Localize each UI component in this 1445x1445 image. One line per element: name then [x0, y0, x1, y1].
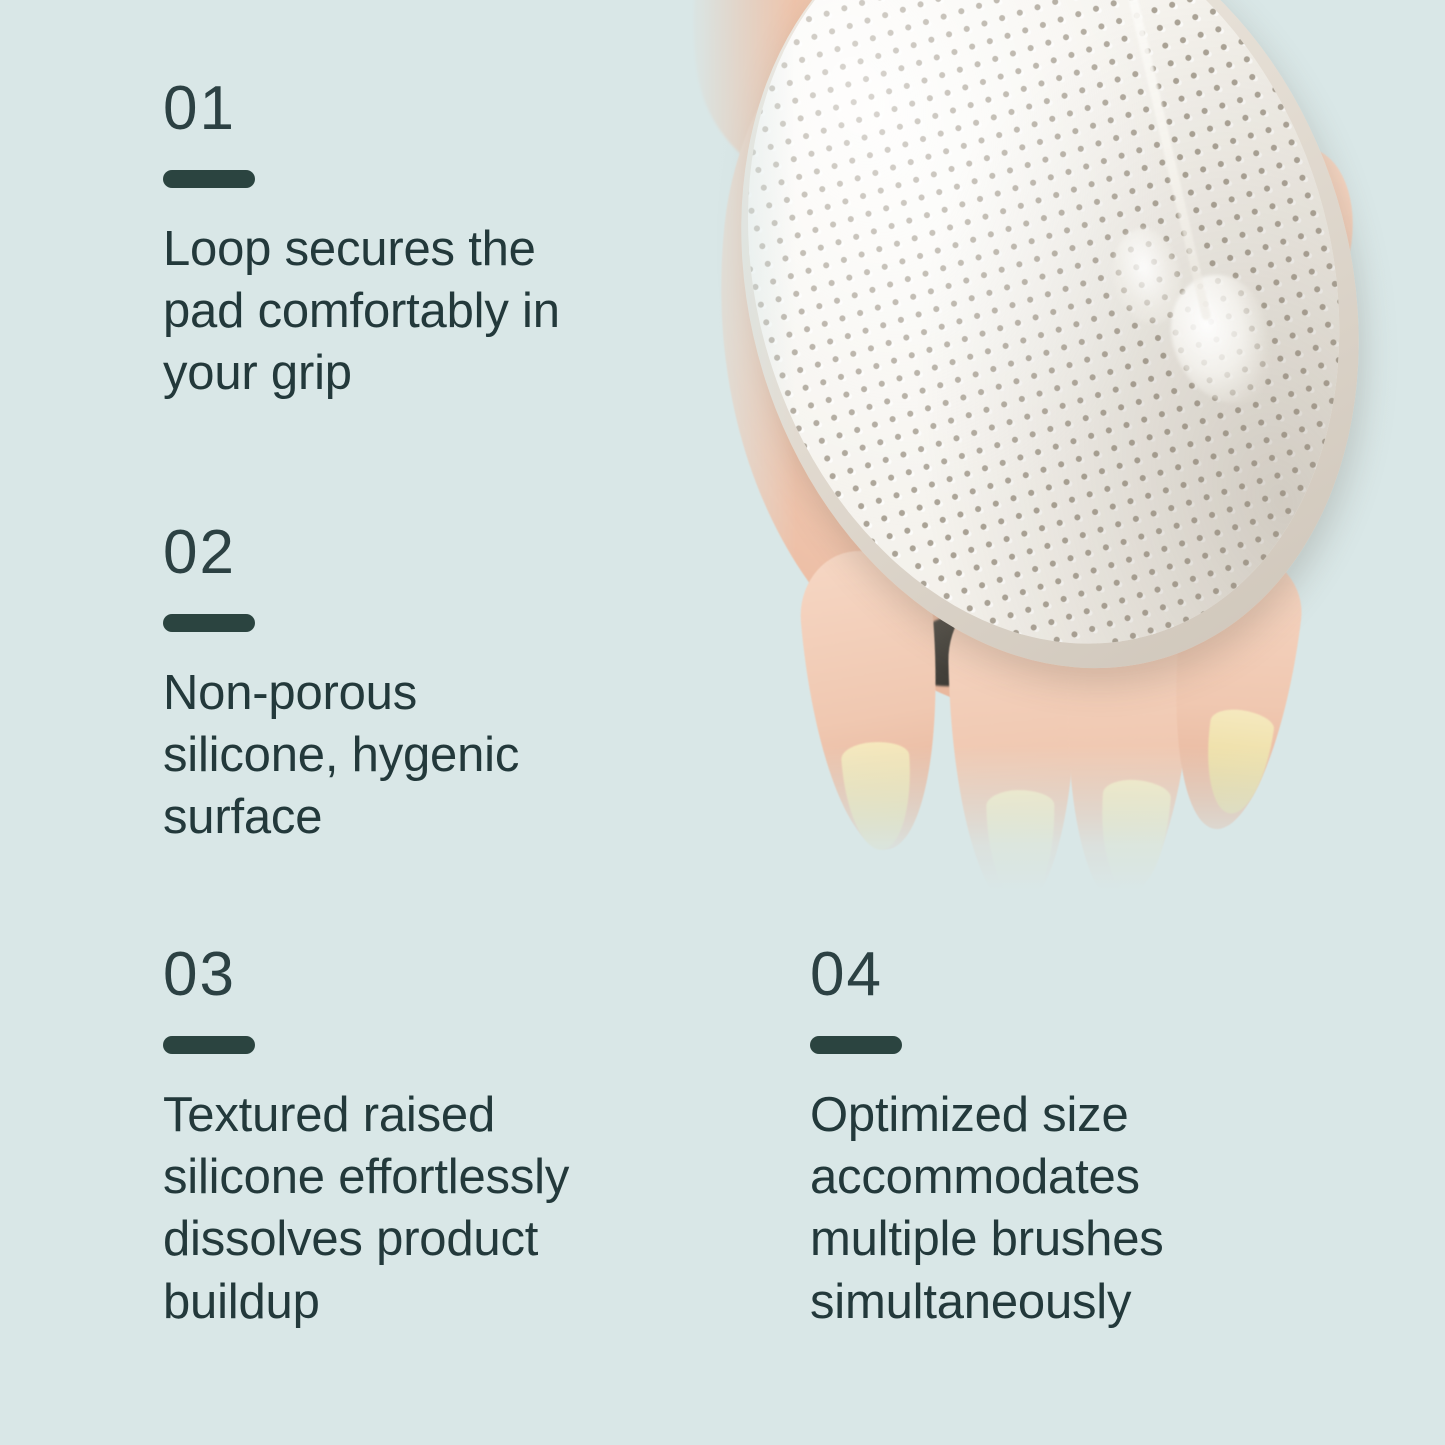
feature-number-01: 01	[163, 78, 693, 140]
feature-item-02: 02 Non-porous silicone, hygenic surface	[163, 522, 663, 849]
feature-text-02: Non-porous silicone, hygenic surface	[163, 662, 663, 849]
feature-item-03: 03 Textured raised silicone effortlessly…	[163, 944, 708, 1333]
feature-text-04: Optimized size accommodates multiple bru…	[810, 1084, 1330, 1333]
pad-shading	[660, 0, 1428, 718]
feature-dash-04	[810, 1036, 902, 1054]
feature-dash-01	[163, 170, 255, 188]
feature-number-04: 04	[810, 944, 1330, 1006]
feature-item-01: 01 Loop secures the pad comfortably in y…	[163, 78, 693, 405]
product-feature-infographic: 01 Loop secures the pad comfortably in y…	[0, 0, 1445, 1445]
feature-item-04: 04 Optimized size accommodates multiple …	[810, 944, 1330, 1333]
feature-number-03: 03	[163, 944, 708, 1006]
product-photo	[660, 0, 1445, 890]
silicone-cleaning-pad	[660, 0, 1445, 746]
feature-text-01: Loop secures the pad comfortably in your…	[163, 218, 693, 405]
feature-dash-03	[163, 1036, 255, 1054]
feature-dash-02	[163, 614, 255, 632]
feature-text-03: Textured raised silicone effortlessly di…	[163, 1084, 708, 1333]
feature-number-02: 02	[163, 522, 663, 584]
pad-face	[660, 0, 1428, 718]
